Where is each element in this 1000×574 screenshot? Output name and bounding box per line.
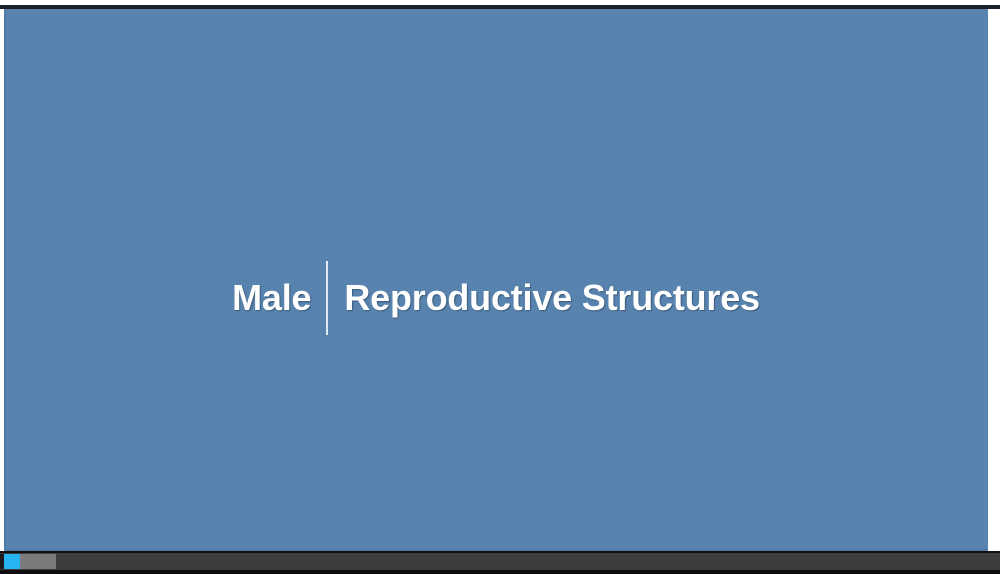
slide-title: Male Reproductive Structures [4, 261, 988, 335]
presentation-slide[interactable]: Male Reproductive Structures [4, 9, 988, 551]
title-divider [326, 261, 328, 335]
progress-start-cap [0, 554, 4, 569]
slide-title-secondary: Reproductive Structures [328, 280, 760, 316]
video-player[interactable]: Male Reproductive Structures [0, 0, 1000, 574]
progress-played [4, 554, 20, 569]
progress-scrubber[interactable] [0, 554, 1000, 569]
slide-title-primary: Male [232, 280, 326, 316]
player-control-bar[interactable] [0, 551, 1000, 574]
player-bar-top-divider [0, 551, 1000, 553]
player-bar-bottom-divider [0, 570, 1000, 574]
